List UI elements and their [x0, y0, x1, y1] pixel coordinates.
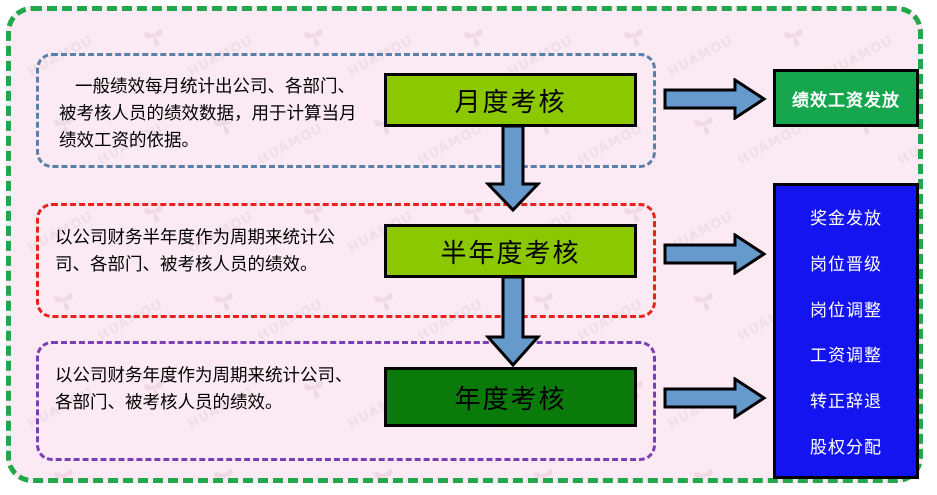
watermark-text: HUAMOU: [896, 121, 918, 168]
watermark-flower-icon: [689, 461, 720, 478]
watermark-text: HUAMOU: [256, 473, 326, 478]
outcome-box-actions: 奖金发放岗位晋级岗位调整工资调整转正辞退股权分配: [773, 183, 919, 479]
watermark-text: HUAMOU: [576, 473, 646, 478]
description-annual: 以公司财务年度作为周期来统计公司、各部门、被考核人员的绩效。: [55, 363, 360, 417]
action-list-item[interactable]: 工资调整: [810, 341, 882, 366]
watermark-text: HUAMOU: [666, 33, 736, 80]
action-list-item[interactable]: 奖金发放: [810, 204, 882, 229]
action-list-item[interactable]: 股权分配: [810, 433, 882, 458]
arrow-right-icon-half-year: [663, 233, 767, 275]
watermark-flower-icon: [369, 461, 400, 478]
action-list-item[interactable]: 岗位调整: [810, 296, 882, 321]
description-monthly: 一般绩效每月统计出公司、各部门、被考核人员的绩效数据，用于计算当月绩效工资的依据…: [59, 74, 359, 155]
watermark-flower-icon: [619, 21, 650, 52]
watermark-text: HUAMOU: [96, 473, 166, 478]
action-list-item[interactable]: 转正辞退: [810, 387, 882, 412]
watermark-flower-icon: [779, 21, 810, 52]
watermark-text: HUAMOU: [416, 473, 486, 478]
watermark-flower-icon: [139, 21, 170, 52]
stage-box-annual[interactable]: 年度考核: [384, 367, 637, 427]
stage-box-half-year[interactable]: 半年度考核: [384, 224, 637, 278]
outer-frame: HUAMOUHUAMOUHUAMOUHUAMOUHUAMOUHUAMOUHUAM…: [6, 6, 923, 483]
action-list-item[interactable]: 岗位晋级: [810, 250, 882, 275]
watermark-flower-icon: [299, 21, 330, 52]
arrow-down-icon-half-to-annual: [485, 275, 541, 367]
watermark-flower-icon: [689, 285, 720, 316]
watermark-flower-icon: [49, 461, 80, 478]
outcome-box-salary[interactable]: 绩效工资发放: [773, 69, 919, 127]
diagram-canvas: HUAMOUHUAMOUHUAMOUHUAMOUHUAMOUHUAMOUHUAM…: [0, 0, 937, 495]
watermark-text: HUAMOU: [736, 121, 806, 168]
watermark-flower-icon: [529, 461, 560, 478]
watermark-flower-icon: [209, 461, 240, 478]
description-half-year: 以公司财务半年度作为周期来统计公司、各部门、被考核人员的绩效。: [55, 225, 360, 279]
watermark-flower-icon: [459, 21, 490, 52]
arrow-down-icon-monthly-to-half: [485, 124, 541, 212]
arrow-right-icon-monthly: [663, 78, 767, 120]
arrow-right-icon-annual: [663, 377, 767, 419]
stage-box-monthly[interactable]: 月度考核: [384, 73, 637, 127]
